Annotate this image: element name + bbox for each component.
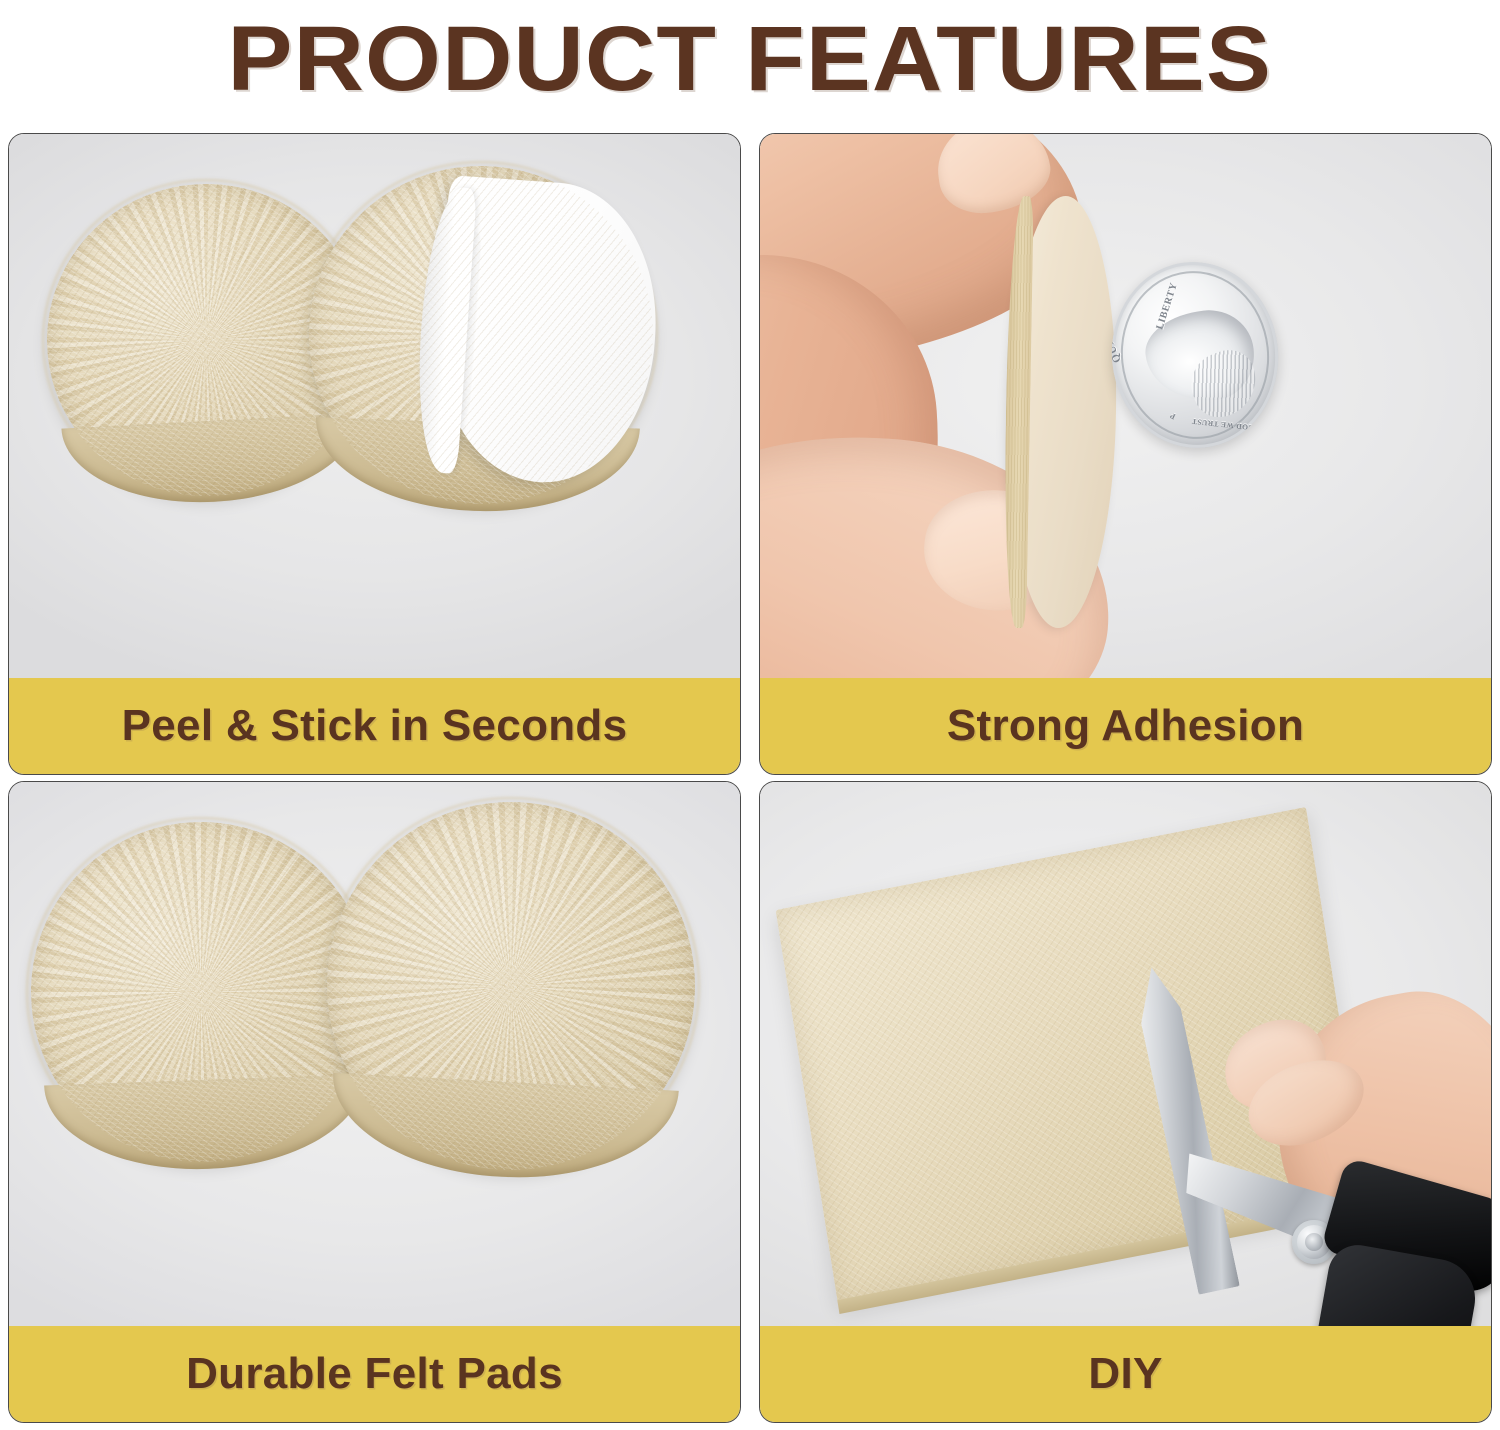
caption-bar-diy: DIY	[760, 1326, 1491, 1422]
feature-image-peel-stick	[9, 134, 740, 678]
feature-panel-diy: DIY	[759, 781, 1492, 1423]
page-header: PRODUCT FEATURES	[0, 0, 1500, 118]
feature-panel-grid: Peel & Stick in Seconds	[8, 133, 1492, 1423]
feature-panel-durable-felt: Durable Felt Pads	[8, 781, 741, 1423]
liner-peel-curl	[411, 185, 477, 474]
feature-panel-strong-adhesion: UNITED STATES OF AMERICA LIBERTY QUARTER…	[759, 133, 1492, 775]
caption-bar-peel-stick: Peel & Stick in Seconds	[9, 678, 740, 774]
caption-label: Peel & Stick in Seconds	[122, 701, 628, 751]
caption-label: Durable Felt Pads	[186, 1349, 563, 1399]
caption-label: Strong Adhesion	[947, 701, 1304, 751]
felt-pad-with-liner	[303, 160, 659, 510]
feature-image-durable-felt	[9, 782, 740, 1326]
product-features-infographic: PRODUCT FEATURES Peel & Stick in Seco	[0, 0, 1500, 1430]
caption-bar-strong-adhesion: Strong Adhesion	[760, 678, 1491, 774]
caption-label: DIY	[1088, 1349, 1162, 1399]
feature-image-strong-adhesion: UNITED STATES OF AMERICA LIBERTY QUARTER…	[760, 134, 1491, 678]
feature-panel-peel-stick: Peel & Stick in Seconds	[8, 133, 741, 775]
feature-image-diy	[760, 782, 1491, 1326]
page-title: PRODUCT FEATURES	[228, 13, 1273, 105]
caption-bar-durable-felt: Durable Felt Pads	[9, 1326, 740, 1422]
fingernail-icon	[932, 134, 1056, 219]
